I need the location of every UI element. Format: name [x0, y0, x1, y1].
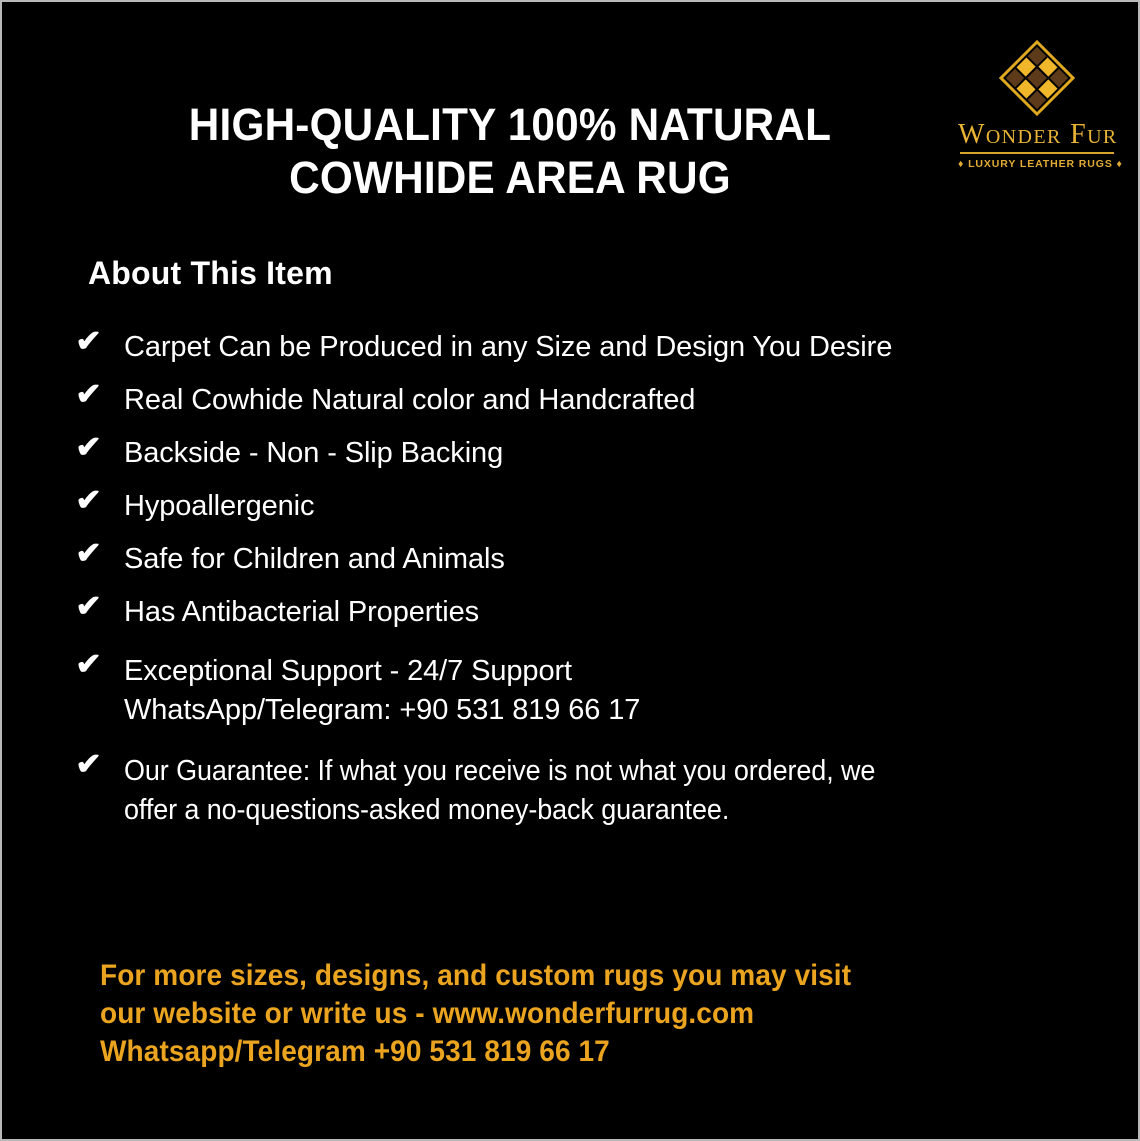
section-heading-about: About This Item	[88, 255, 333, 292]
check-icon: ✔	[75, 380, 101, 410]
list-item-label: Safe for Children and Animals	[124, 543, 505, 575]
list-item: ✔ Our Guarantee: If what you receive is …	[72, 752, 1082, 830]
check-icon: ✔	[75, 433, 101, 463]
check-icon: ✔	[75, 592, 101, 622]
feature-list: ✔ Carpet Can be Produced in any Size and…	[72, 329, 1082, 847]
product-info-poster: Wonder Fur ♦ LUXURY LEATHER RUGS ♦ HIGH-…	[0, 0, 1140, 1141]
list-item: ✔ Has Antibacterial Properties	[72, 594, 1082, 630]
contact-footer: For more sizes, designs, and custom rugs…	[100, 957, 1012, 1071]
list-item-label: Carpet Can be Produced in any Size and D…	[124, 331, 892, 363]
list-item-label: Hypoallergenic	[124, 490, 314, 522]
list-item: ✔ Exceptional Support - 24/7 Support Wha…	[72, 652, 1082, 730]
check-icon: ✔	[75, 539, 101, 569]
brand-tagline: ♦ LUXURY LEATHER RUGS ♦	[958, 159, 1116, 170]
list-item-label: Our Guarantee: If what you receive is no…	[124, 752, 1086, 830]
check-icon: ✔	[75, 650, 101, 680]
list-item: ✔ Hypoallergenic	[72, 488, 1082, 524]
list-item: ✔ Backside - Non - Slip Backing	[72, 435, 1082, 471]
check-icon: ✔	[75, 486, 101, 516]
list-item-label: Real Cowhide Natural color and Handcraft…	[124, 384, 695, 416]
list-item: ✔ Safe for Children and Animals	[72, 541, 1082, 577]
brand-wordmark: Wonder Fur	[958, 120, 1116, 149]
brand-logo: Wonder Fur ♦ LUXURY LEATHER RUGS ♦	[958, 40, 1116, 170]
diamond-checker-icon	[999, 40, 1075, 116]
page-title: HIGH-QUALITY 100% NATURAL COWHIDE AREA R…	[85, 98, 935, 204]
check-icon: ✔	[75, 750, 101, 780]
list-item: ✔ Carpet Can be Produced in any Size and…	[72, 329, 1082, 365]
list-item-label: Has Antibacterial Properties	[124, 596, 479, 628]
check-icon: ✔	[75, 327, 101, 357]
list-item-label: Exceptional Support - 24/7 Support Whats…	[124, 655, 640, 726]
logo-divider	[960, 152, 1114, 154]
list-item: ✔ Real Cowhide Natural color and Handcra…	[72, 382, 1082, 418]
list-item-label: Backside - Non - Slip Backing	[124, 437, 503, 469]
